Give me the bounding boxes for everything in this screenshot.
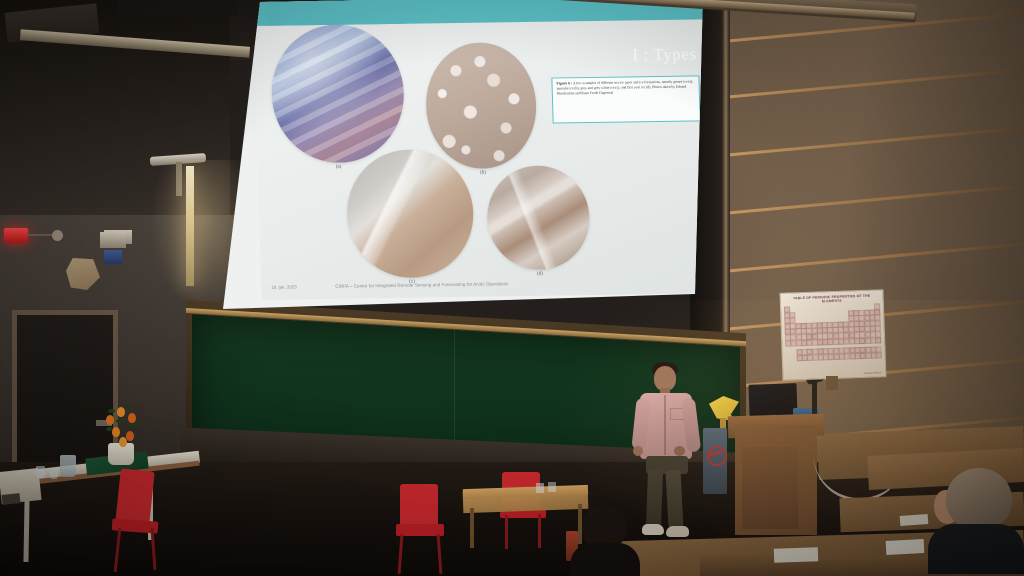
presenter-hand-left <box>633 446 643 456</box>
screen-surface: I : Types (a) (b) (c) (d) Figure 6 : A f… <box>205 0 703 312</box>
tulip-bouquet <box>104 403 140 449</box>
audience-hair <box>946 468 1012 530</box>
slide-title: I : Types <box>556 42 697 68</box>
drinking-glass <box>548 482 556 492</box>
wall-light-strip <box>186 166 194 286</box>
slide: I : Types (a) (b) (c) (d) Figure 6 : A f… <box>253 0 712 300</box>
drinking-glass <box>50 468 58 479</box>
presenter <box>628 362 708 540</box>
presenter-leg-left <box>646 470 663 528</box>
sign-mount-rod <box>27 234 53 236</box>
lectern-front-panel <box>742 447 798 529</box>
drinking-glass <box>536 483 544 493</box>
slide-photo-grease-ice <box>270 24 406 164</box>
lecture-hall-scene: I : Types (a) (b) (c) (d) Figure 6 : A f… <box>0 0 1024 576</box>
slide-photo-grey-ice <box>345 149 475 279</box>
audience-shoulders <box>570 543 640 576</box>
presenter-shirt-placket <box>664 395 666 455</box>
presenter-shoe-left <box>642 524 664 535</box>
footer-organisation: CIRFA – Centre for Integrated Remote Sen… <box>335 281 508 289</box>
presenter-hand-right <box>674 446 685 456</box>
periodic-element-cell <box>876 352 882 358</box>
paper-sheet <box>886 539 925 555</box>
drinking-glass <box>36 466 45 478</box>
periodic-table-poster: TABLE OF PERIODIC PROPERTIES OF THE ELEM… <box>779 289 886 381</box>
podium-monitor[interactable] <box>748 383 797 417</box>
poster-element-grid <box>784 303 882 372</box>
presenter-shoe-right <box>666 526 689 537</box>
water-pitcher <box>60 455 76 477</box>
slide-footer: 18. jan. 2023 CIRFA – Centre for Integra… <box>271 278 703 294</box>
booklet-on-table <box>2 493 21 505</box>
photo-label-a: (a) <box>336 165 342 170</box>
poster-caption: Sargent-Welch <box>864 371 881 375</box>
slide-photo-first-year-ice <box>486 165 591 270</box>
center-table-leg <box>470 508 474 548</box>
footer-page-number: 16 <box>698 278 703 283</box>
photo-label-d: (d) <box>537 272 543 277</box>
audience-member-front <box>566 505 640 576</box>
projection-screen: I : Types (a) (b) (c) (d) Figure 6 : A f… <box>205 0 705 314</box>
paper-sheet <box>774 547 818 563</box>
caption-body: A few examples of different sea ice type… <box>557 79 694 95</box>
footer-date: 18. jan. 2023 <box>271 284 297 289</box>
exit-sign <box>4 228 28 243</box>
wall-speaker <box>100 232 126 248</box>
slide-figure-caption: Figure 6 : A few examples of different s… <box>551 75 700 123</box>
ceiling-speaker <box>52 230 63 241</box>
presenter-leg-right <box>665 470 683 529</box>
wall-blue-box <box>104 250 122 264</box>
periodic-element-cell <box>875 337 881 343</box>
caption-lead: Figure 6 : <box>556 81 572 85</box>
audience-member-right <box>928 468 1024 576</box>
audience-shoulders <box>928 524 1024 574</box>
paper-sheet <box>900 514 929 526</box>
poster-hanger <box>826 376 838 390</box>
